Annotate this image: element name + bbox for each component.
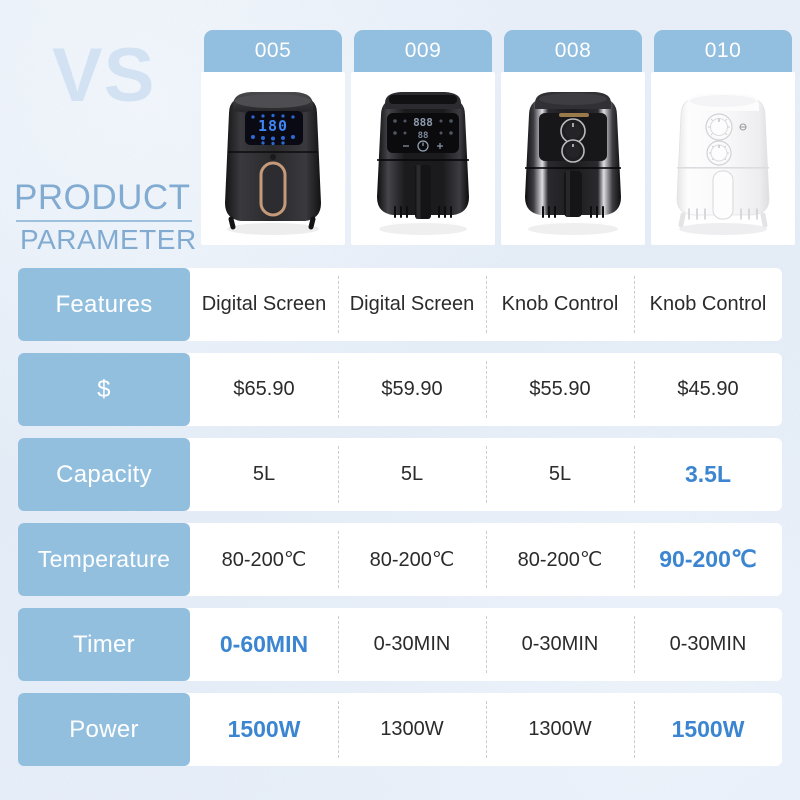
row-cells-power: 1500W 1300W 1300W 1500W bbox=[190, 693, 782, 766]
svg-text:180: 180 bbox=[258, 117, 288, 135]
air-fryer-009-black-touch-icon: 888 88 bbox=[351, 72, 495, 245]
product-tab-008[interactable]: 008 bbox=[504, 30, 642, 72]
cell-temperature-009: 80-200℃ bbox=[338, 523, 486, 596]
row-cells-temperature: 80-200℃ 80-200℃ 80-200℃ 90-200℃ bbox=[190, 523, 782, 596]
product-tab-010[interactable]: 010 bbox=[654, 30, 792, 72]
air-fryer-010-white-knob-icon bbox=[651, 72, 795, 245]
row-cells-timer: 0-60MIN 0-30MIN 0-30MIN 0-30MIN bbox=[190, 608, 782, 681]
row-label-power: Power bbox=[18, 693, 190, 766]
cell-timer-009: 0-30MIN bbox=[338, 608, 486, 681]
table-row: Temperature 80-200℃ 80-200℃ 80-200℃ 90-2… bbox=[18, 523, 782, 596]
table-row: Features Digital Screen Digital Screen K… bbox=[18, 268, 782, 341]
cell-power-009: 1300W bbox=[338, 693, 486, 766]
cell-temperature-005: 80-200℃ bbox=[190, 523, 338, 596]
product-image-card-009[interactable]: 888 88 bbox=[351, 72, 495, 245]
cell-capacity-010: 3.5L bbox=[634, 438, 782, 511]
table-row: $ $65.90 $59.90 $55.90 $45.90 bbox=[18, 353, 782, 426]
row-label-features: Features bbox=[18, 268, 190, 341]
row-label-timer: Timer bbox=[18, 608, 190, 681]
table-row: Power 1500W 1300W 1300W 1500W bbox=[18, 693, 782, 766]
cell-features-005: Digital Screen bbox=[190, 268, 338, 341]
cell-timer-005: 0-60MIN bbox=[190, 608, 338, 681]
row-label-capacity: Capacity bbox=[18, 438, 190, 511]
cell-power-010: 1500W bbox=[634, 693, 782, 766]
cell-capacity-009: 5L bbox=[338, 438, 486, 511]
product-tab-005[interactable]: 005 bbox=[204, 30, 342, 72]
cell-power-008: 1300W bbox=[486, 693, 634, 766]
row-label-price: $ bbox=[18, 353, 190, 426]
cell-features-010: Knob Control bbox=[634, 268, 782, 341]
cell-capacity-005: 5L bbox=[190, 438, 338, 511]
table-row: Timer 0-60MIN 0-30MIN 0-30MIN 0-30MIN bbox=[18, 608, 782, 681]
row-cells-price: $65.90 $59.90 $55.90 $45.90 bbox=[190, 353, 782, 426]
air-fryer-008-black-knob-icon bbox=[501, 72, 645, 245]
air-fryer-005-black-digital-icon: 180 bbox=[201, 72, 345, 245]
product-image-card-005[interactable]: 180 bbox=[201, 72, 345, 245]
row-label-temperature: Temperature bbox=[18, 523, 190, 596]
title-divider bbox=[16, 220, 192, 222]
cell-capacity-008: 5L bbox=[486, 438, 634, 511]
cell-price-008: $55.90 bbox=[486, 353, 634, 426]
cell-price-010: $45.90 bbox=[634, 353, 782, 426]
product-image-card-010[interactable] bbox=[651, 72, 795, 245]
svg-text:88: 88 bbox=[418, 131, 429, 141]
cell-temperature-008: 80-200℃ bbox=[486, 523, 634, 596]
cell-timer-008: 0-30MIN bbox=[486, 608, 634, 681]
row-cells-features: Digital Screen Digital Screen Knob Contr… bbox=[190, 268, 782, 341]
table-row: Capacity 5L 5L 5L 3.5L bbox=[18, 438, 782, 511]
cell-price-005: $65.90 bbox=[190, 353, 338, 426]
product-image-card-008[interactable] bbox=[501, 72, 645, 245]
vs-heading: VS bbox=[52, 38, 155, 114]
cell-timer-010: 0-30MIN bbox=[634, 608, 782, 681]
comparison-table: Features Digital Screen Digital Screen K… bbox=[18, 268, 782, 778]
cell-price-009: $59.90 bbox=[338, 353, 486, 426]
title-block: VS PRODUCT PARAMETER bbox=[0, 30, 196, 246]
cell-features-008: Knob Control bbox=[486, 268, 634, 341]
svg-text:888: 888 bbox=[413, 116, 433, 129]
product-tab-009[interactable]: 009 bbox=[354, 30, 492, 72]
cell-power-005: 1500W bbox=[190, 693, 338, 766]
cell-features-009: Digital Screen bbox=[338, 268, 486, 341]
parameter-heading: PARAMETER bbox=[20, 226, 197, 254]
cell-temperature-010: 90-200℃ bbox=[634, 523, 782, 596]
row-cells-capacity: 5L 5L 5L 3.5L bbox=[190, 438, 782, 511]
product-heading: PRODUCT bbox=[14, 180, 191, 215]
